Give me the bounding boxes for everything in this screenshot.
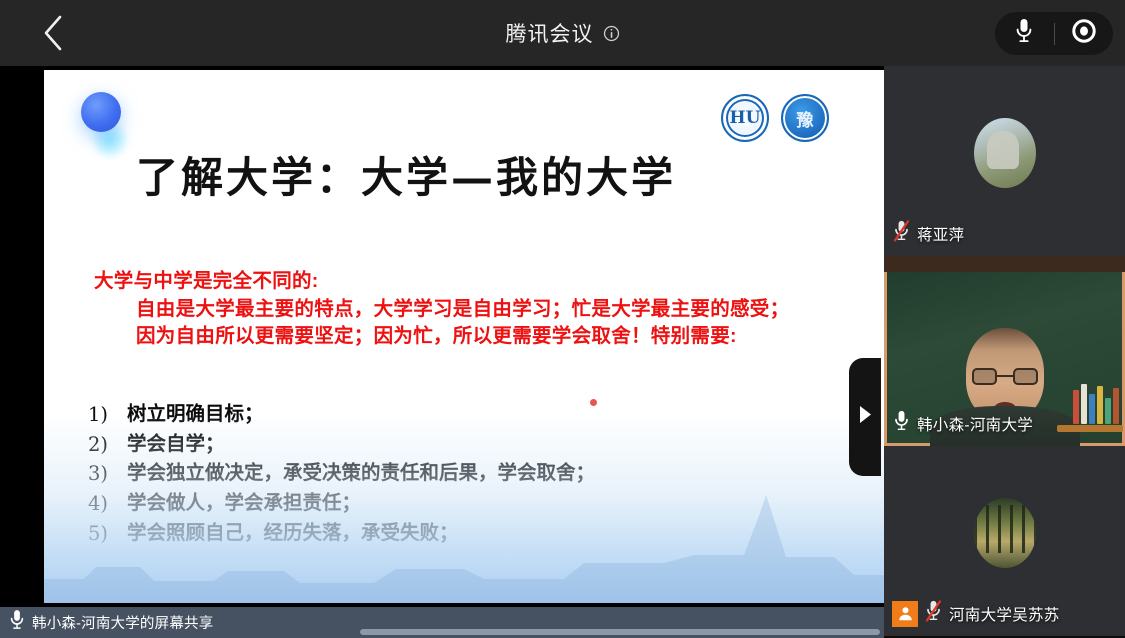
avatar xyxy=(974,498,1036,568)
microphone-icon xyxy=(1014,17,1034,50)
speaker-glasses xyxy=(972,368,1038,385)
shared-screen-stage[interactable]: HU 豫 了解大学：大学—我的大学 大学与中学是完全不同的: 自由是大学最主要的… xyxy=(0,66,884,607)
microphone-muted-icon xyxy=(892,219,911,248)
decor-city-skyline xyxy=(44,483,884,603)
slide-title: 了解大学：大学—我的大学 xyxy=(136,144,676,205)
participant-rail[interactable]: 蒋亚萍 xyxy=(884,66,1125,638)
presentation-slide: HU 豫 了解大学：大学—我的大学 大学与中学是完全不同的: 自由是大学最主要的… xyxy=(44,70,884,603)
triangle-right-icon xyxy=(858,405,873,429)
participant-label: 河南大学吴苏苏 xyxy=(892,599,1060,628)
blackboard-frame xyxy=(884,256,1125,272)
top-right-controls xyxy=(995,12,1113,55)
henan-university-logo: HU xyxy=(721,94,769,142)
slide-body-line-3: 因为自由所以更需要坚定；因为忙，所以更需要学会取舍！特别需要: xyxy=(94,323,854,351)
participant-name: 蒋亚萍 xyxy=(917,223,964,245)
meeting-window: 腾讯会议 xyxy=(0,0,1125,638)
logo-left-text: HU xyxy=(730,108,761,128)
participant-label: 蒋亚萍 xyxy=(892,219,964,248)
participant-name: 韩小森-河南大学 xyxy=(917,413,1033,435)
title-bar: 腾讯会议 xyxy=(0,0,1125,66)
avatar xyxy=(974,118,1036,188)
microphone-icon xyxy=(8,608,26,637)
screen-share-label: 韩小森-河南大学的屏幕共享 xyxy=(32,612,213,633)
slide-body-line-1: 大学与中学是完全不同的: xyxy=(94,268,854,296)
info-circle-icon[interactable] xyxy=(603,25,620,42)
scrollbar-thumb[interactable] xyxy=(360,629,880,635)
secondary-university-logo: 豫 xyxy=(781,94,829,142)
bookshelf xyxy=(1057,425,1123,432)
title-group: 腾讯会议 xyxy=(0,0,1125,66)
host-person-icon xyxy=(892,601,918,627)
microphone-icon xyxy=(892,409,911,438)
mic-toggle-button[interactable] xyxy=(995,12,1054,55)
back-button[interactable] xyxy=(30,10,76,56)
participant-name: 河南大学吴苏苏 xyxy=(949,603,1060,625)
chevron-left-icon xyxy=(42,15,64,51)
books-decor xyxy=(1073,384,1119,424)
microphone-muted-icon xyxy=(924,599,943,628)
decor-blue-dot xyxy=(81,92,121,132)
camera-record-icon xyxy=(1071,18,1097,49)
app-title: 腾讯会议 xyxy=(506,18,594,48)
participant-tile[interactable]: 韩小森-河南大学 xyxy=(884,256,1125,446)
participant-label: 韩小森-河南大学 xyxy=(892,409,1033,438)
participant-tile[interactable]: 河南大学吴苏苏 xyxy=(884,446,1125,636)
collapse-rail-button[interactable] xyxy=(849,358,881,476)
logo-right-text: 豫 xyxy=(797,106,814,131)
camera-toggle-button[interactable] xyxy=(1055,12,1114,55)
participant-tile[interactable]: 蒋亚萍 xyxy=(884,66,1125,256)
horizontal-scrollbar[interactable] xyxy=(352,629,884,635)
slide-body-text: 大学与中学是完全不同的: 自由是大学最主要的特点，大学学习是自由学习；忙是大学最… xyxy=(94,268,854,351)
university-logos: HU 豫 xyxy=(721,94,829,142)
screen-share-status-bar: 韩小森-河南大学的屏幕共享 xyxy=(0,607,884,638)
slide-body-line-2: 自由是大学最主要的特点，大学学习是自由学习；忙是大学最主要的感受； xyxy=(94,296,854,324)
